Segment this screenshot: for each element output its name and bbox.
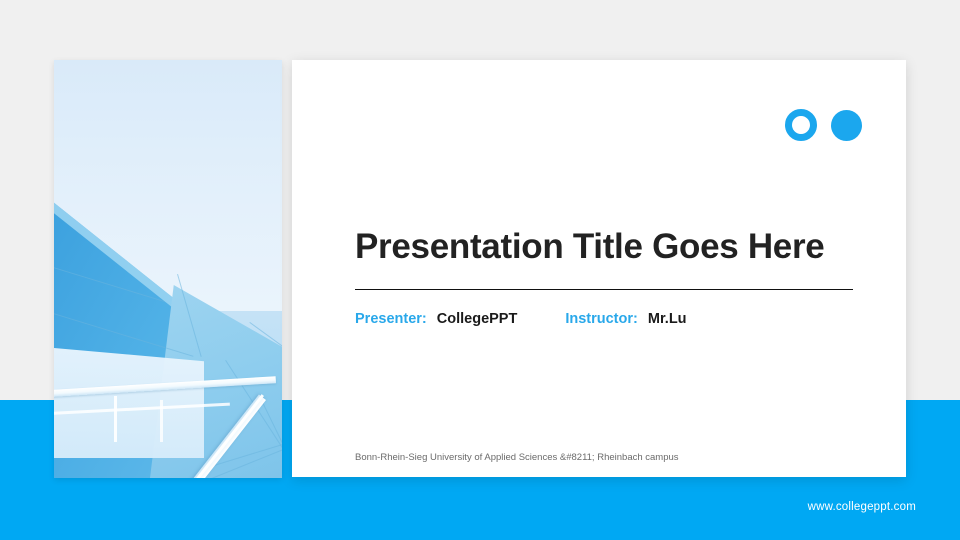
- presentation-meta: Presenter: CollegePPT Instructor: Mr.Lu: [355, 311, 687, 327]
- cover-photo: [54, 60, 282, 478]
- site-url: www.collegeppt.com: [808, 501, 916, 513]
- instructor-name: Mr.Lu: [648, 311, 687, 327]
- instructor-group: Instructor: Mr.Lu: [565, 311, 686, 327]
- footnote: Bonn-Rhein-Sieg University of Applied Sc…: [355, 452, 679, 463]
- presentation-slide: www.collegeppt.com Presentation Title Go…: [0, 0, 960, 540]
- logo: [785, 109, 862, 141]
- presenter-name: CollegePPT: [437, 311, 518, 327]
- content-card: Presentation Title Goes Here Presenter: …: [292, 60, 906, 477]
- presenter-label: Presenter:: [355, 311, 427, 327]
- page-title: Presentation Title Goes Here: [355, 228, 865, 267]
- presenter-group: Presenter: CollegePPT: [355, 311, 517, 327]
- circle-filled-icon: [831, 110, 862, 141]
- circle-outline-icon: [785, 109, 817, 141]
- title-divider: [355, 289, 853, 290]
- photo-rail-post: [114, 396, 117, 442]
- instructor-label: Instructor:: [565, 311, 638, 327]
- photo-canopy-shape: [54, 348, 204, 458]
